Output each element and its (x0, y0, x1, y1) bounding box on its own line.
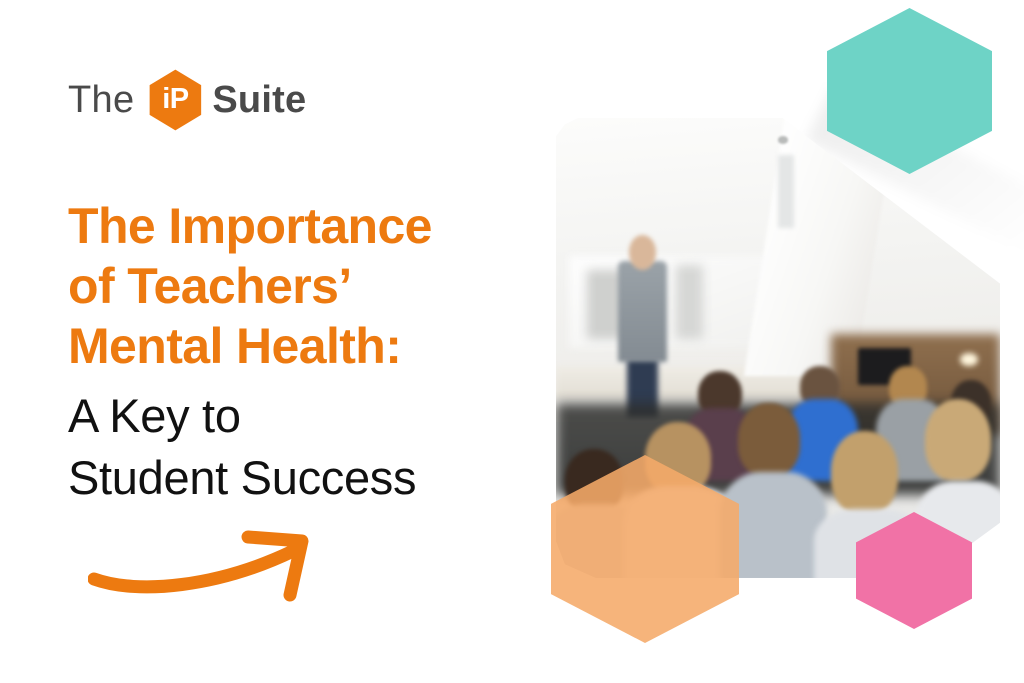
logo-word-suite: Suite (212, 81, 306, 119)
subheadline-line-2: Student Success (68, 447, 538, 509)
brand-logo[interactable]: The iP Suite (68, 72, 306, 128)
logo-badge-text: iP (162, 85, 188, 114)
blog-banner-canvas: The iP Suite The Importance of Teachers’… (0, 0, 1024, 683)
hexagon-teal-icon (827, 8, 992, 174)
logo-hexagon-badge-icon: iP (147, 69, 203, 131)
subheadline-black: A Key to Student Success (68, 385, 538, 509)
headline-line-2: of Teachers’ (68, 256, 538, 316)
headline-line-1: The Importance (68, 196, 538, 256)
logo-word-the: The (68, 81, 134, 119)
subheadline-line-1: A Key to (68, 385, 538, 447)
headline-line-3: Mental Health: (68, 316, 538, 376)
headline-orange: The Importance of Teachers’ Mental Healt… (68, 196, 538, 376)
curved-arrow-up-right-icon (88, 521, 358, 606)
